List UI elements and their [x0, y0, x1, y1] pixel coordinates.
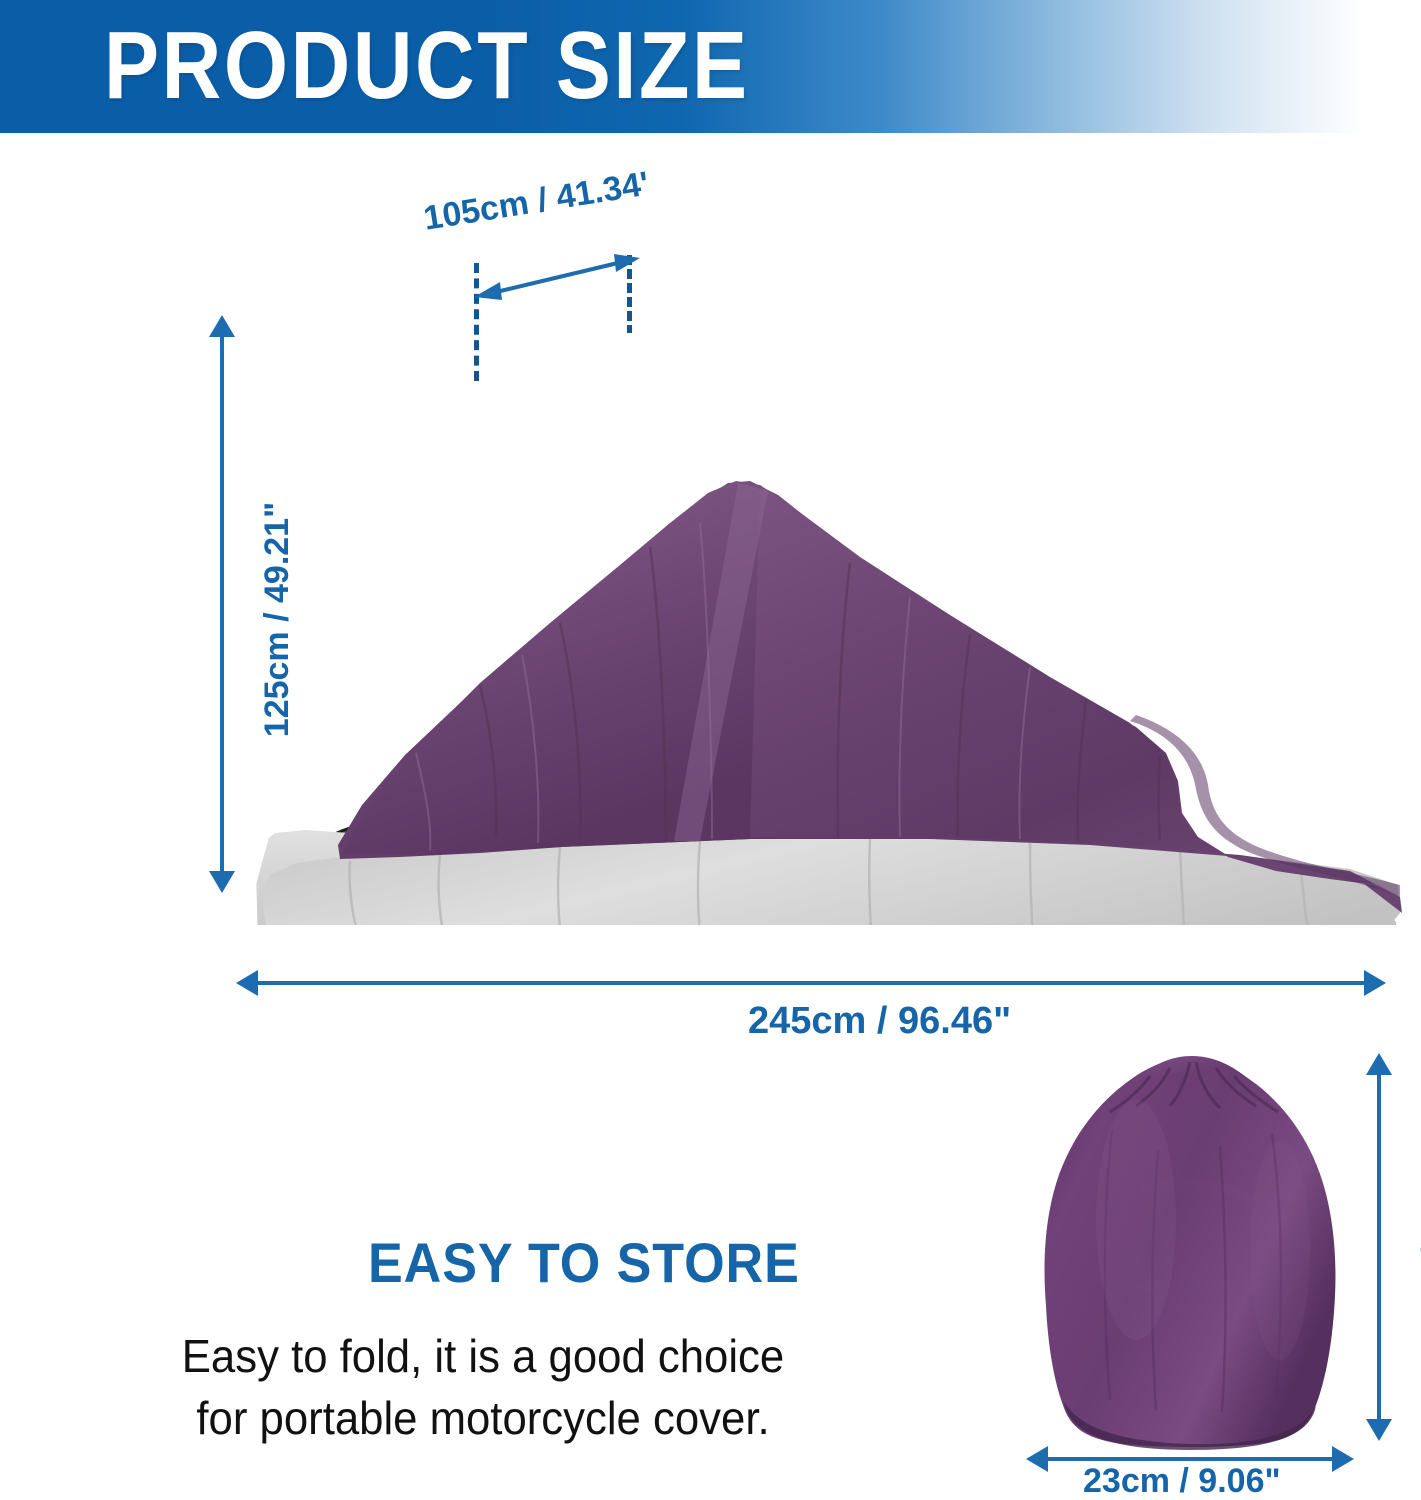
- product-size-infographic: PRODUCT SIZE 105cm / 41.34' 125cm / 49.2…: [0, 0, 1421, 1500]
- cover-length-arrow-left: [236, 970, 258, 996]
- storage-bag-image: [1020, 1050, 1360, 1450]
- bag-width-arrow-right: [1332, 1446, 1354, 1472]
- purple-rear-panel: [750, 485, 1400, 897]
- cover-length-line: [256, 981, 1366, 985]
- easy-to-store-body: Easy to fold, it is a good choice for po…: [122, 1325, 844, 1449]
- header-banner: PRODUCT SIZE: [0, 0, 1421, 133]
- cover-length-arrow-right: [1364, 970, 1386, 996]
- cover-length-label: 245cm / 96.46": [748, 1000, 1011, 1043]
- easy-to-store-title: EASY TO STORE: [368, 1230, 800, 1295]
- cover-top-width-label: 105cm / 41.34': [421, 165, 652, 239]
- motorcycle-cover-image: [230, 285, 1420, 925]
- bag-height-label: 32cm / 12.60": [1413, 1157, 1421, 1361]
- bag-height-line: [1377, 1071, 1381, 1421]
- page-title: PRODUCT SIZE: [104, 12, 750, 120]
- bag-width-line: [1046, 1457, 1334, 1461]
- easy-to-store-line-1: Easy to fold, it is a good choice: [122, 1325, 844, 1387]
- bag-width-label: 23cm / 9.06": [1083, 1462, 1281, 1500]
- cover-height-line: [220, 333, 224, 873]
- easy-to-store-line-2: for portable motorcycle cover.: [122, 1387, 844, 1449]
- bag-height-arrow-bottom: [1366, 1419, 1392, 1441]
- bag-width-arrow-left: [1026, 1446, 1048, 1472]
